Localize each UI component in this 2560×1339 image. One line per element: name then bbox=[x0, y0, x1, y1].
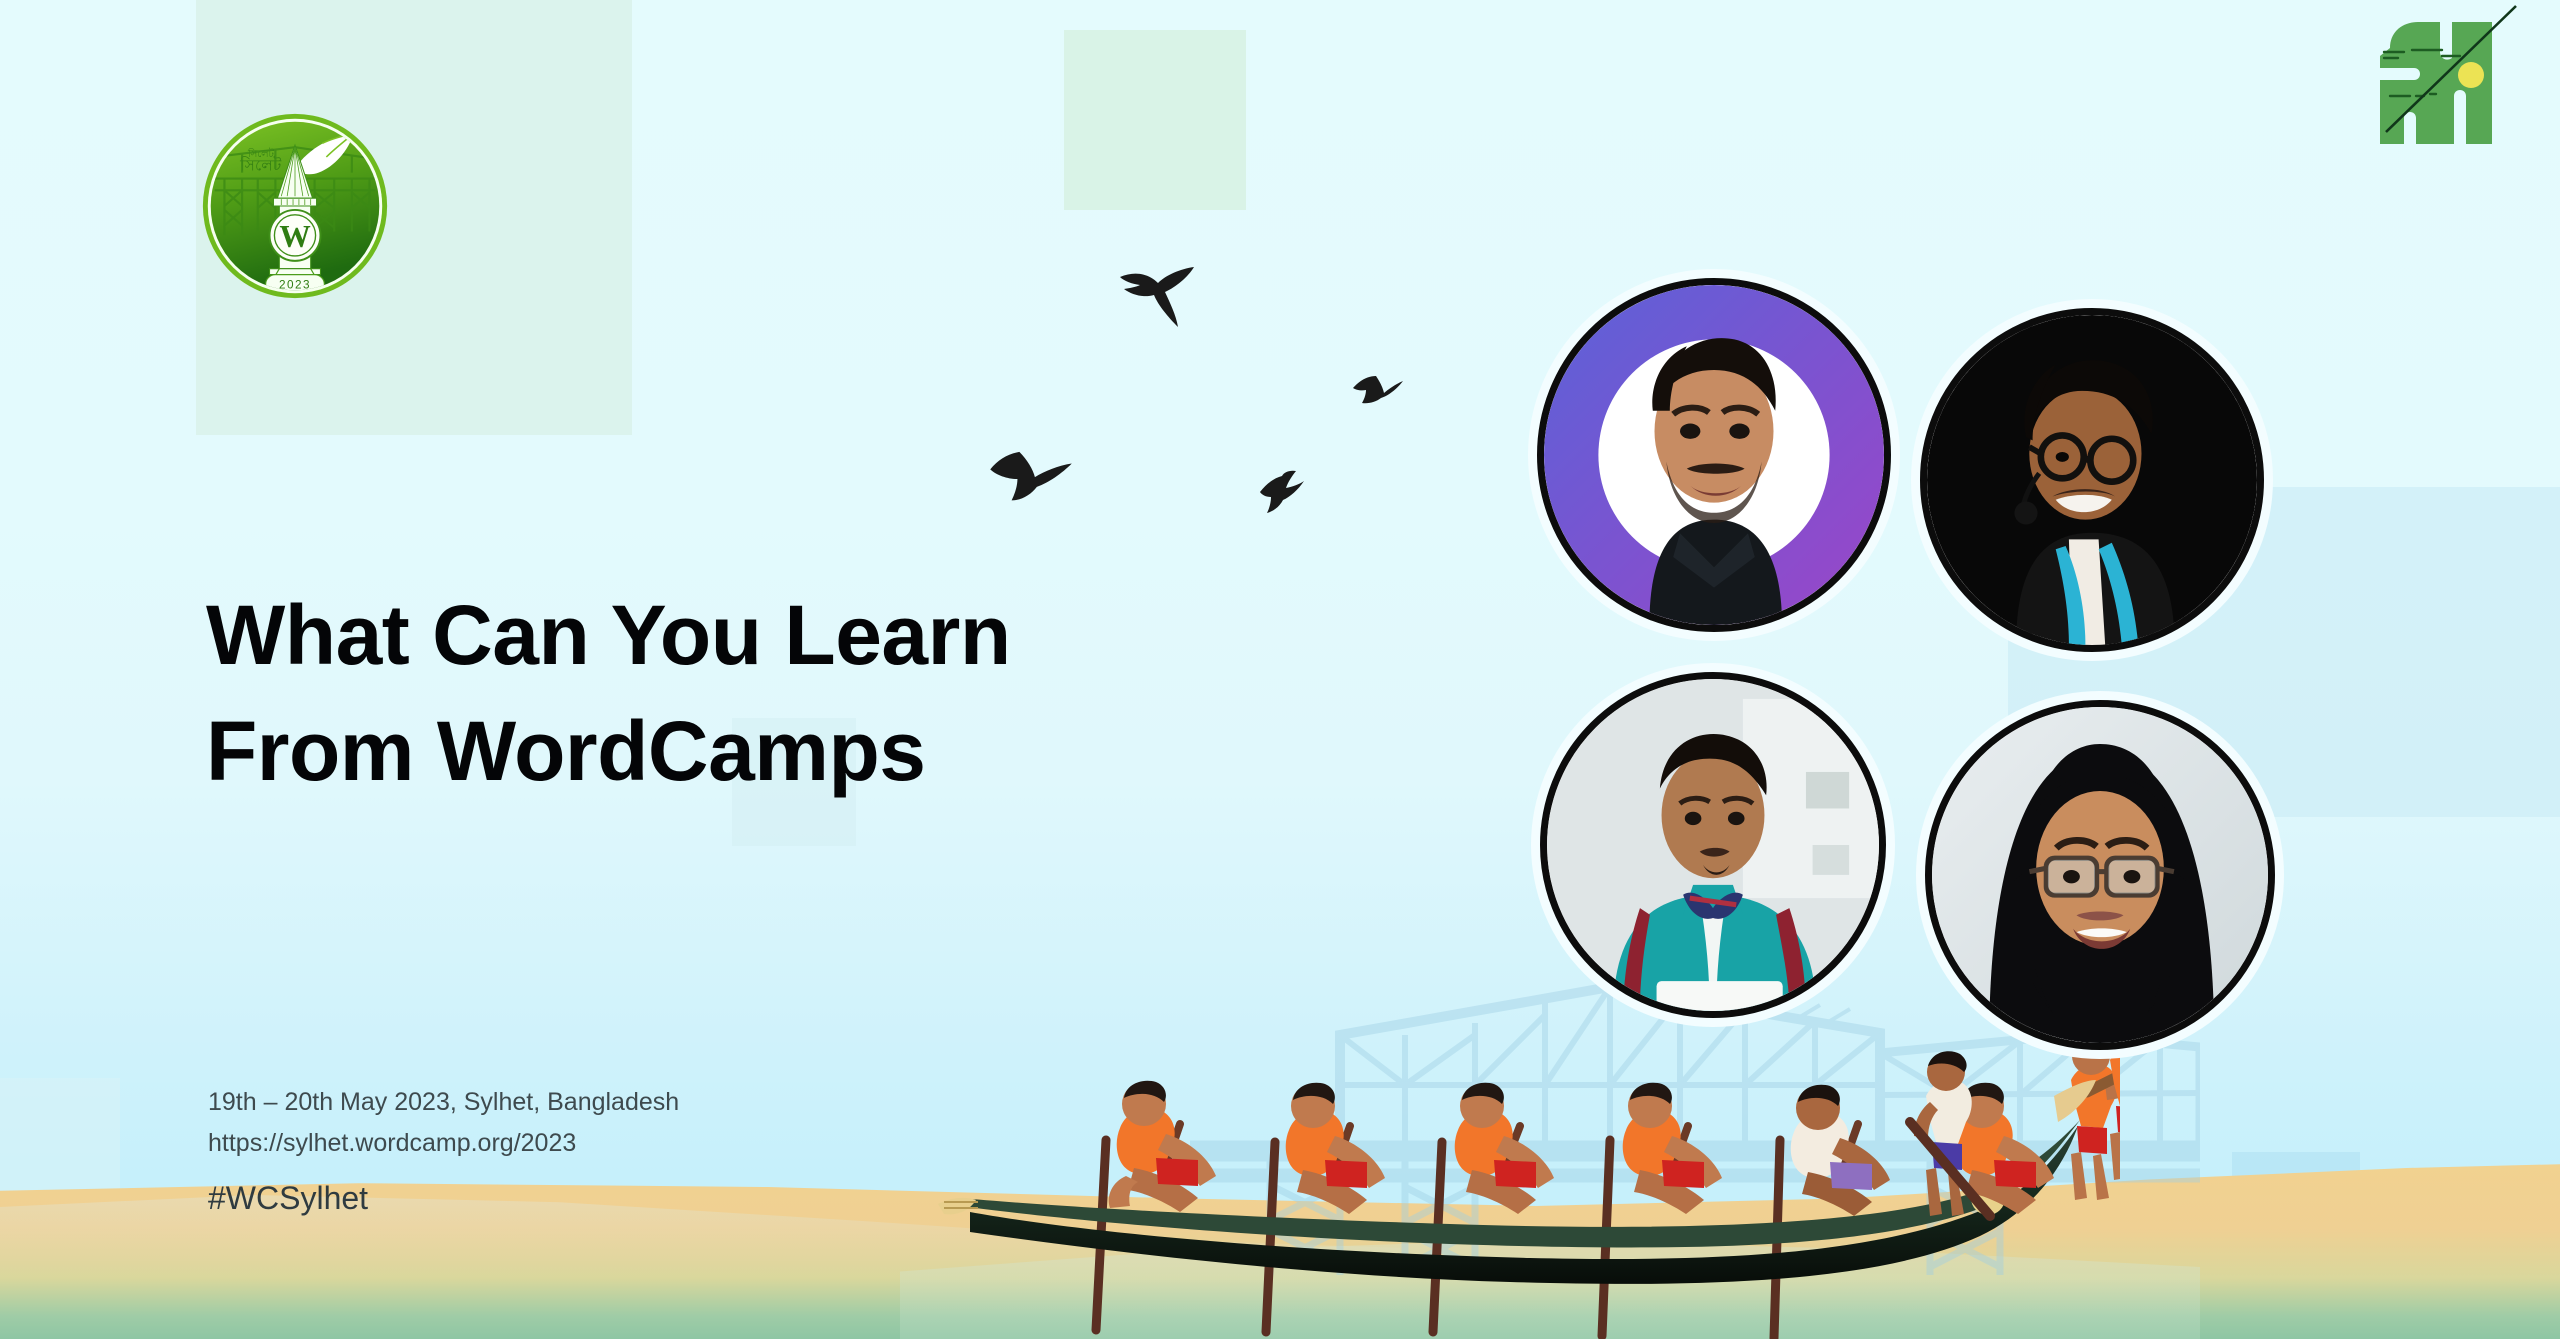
speaker-photo-4 bbox=[1932, 707, 2268, 1043]
event-date-location: 19th – 20th May 2023, Sylhet, Bangladesh bbox=[208, 1082, 679, 1123]
event-hashtag: #WCSylhet bbox=[208, 1180, 368, 1217]
speaker-avatar-1 bbox=[1537, 278, 1891, 632]
speaker-avatar-4 bbox=[1925, 700, 2275, 1050]
speaker-avatar-2 bbox=[1920, 308, 2264, 652]
bird-silhouette-icon bbox=[988, 448, 1076, 514]
wordcamp-promo-slide: সিলেট সিলেট bbox=[0, 0, 2560, 1339]
event-website-url[interactable]: https://sylhet.wordcamp.org/2023 bbox=[208, 1123, 679, 1164]
headline-line-1: What Can You Learn bbox=[206, 588, 1011, 682]
decor-block-top-mint bbox=[1064, 30, 1246, 210]
bird-silhouette-icon bbox=[1352, 372, 1404, 408]
boat-race-illustration bbox=[930, 1000, 2120, 1339]
logo-year: 2023 bbox=[279, 278, 311, 291]
bird-silhouette-icon bbox=[1118, 265, 1208, 333]
wordcamp-sylhet-logo: সিলেট সিলেট bbox=[197, 108, 393, 304]
svg-text:W: W bbox=[279, 219, 310, 254]
speaker-photo-2 bbox=[1927, 315, 2257, 645]
page-title: What Can You Learn From WordCamps bbox=[206, 578, 1406, 810]
speaker-avatar-3 bbox=[1540, 672, 1886, 1018]
headline-line-2: From WordCamps bbox=[206, 694, 1406, 810]
event-meta: 19th – 20th May 2023, Sylhet, Bangladesh… bbox=[208, 1082, 679, 1163]
speaker-photo-1 bbox=[1544, 285, 1884, 625]
sylhet-brand-mark-icon bbox=[2358, 4, 2518, 164]
speaker-photo-3 bbox=[1547, 679, 1879, 1011]
bird-silhouette-icon bbox=[1258, 470, 1306, 514]
